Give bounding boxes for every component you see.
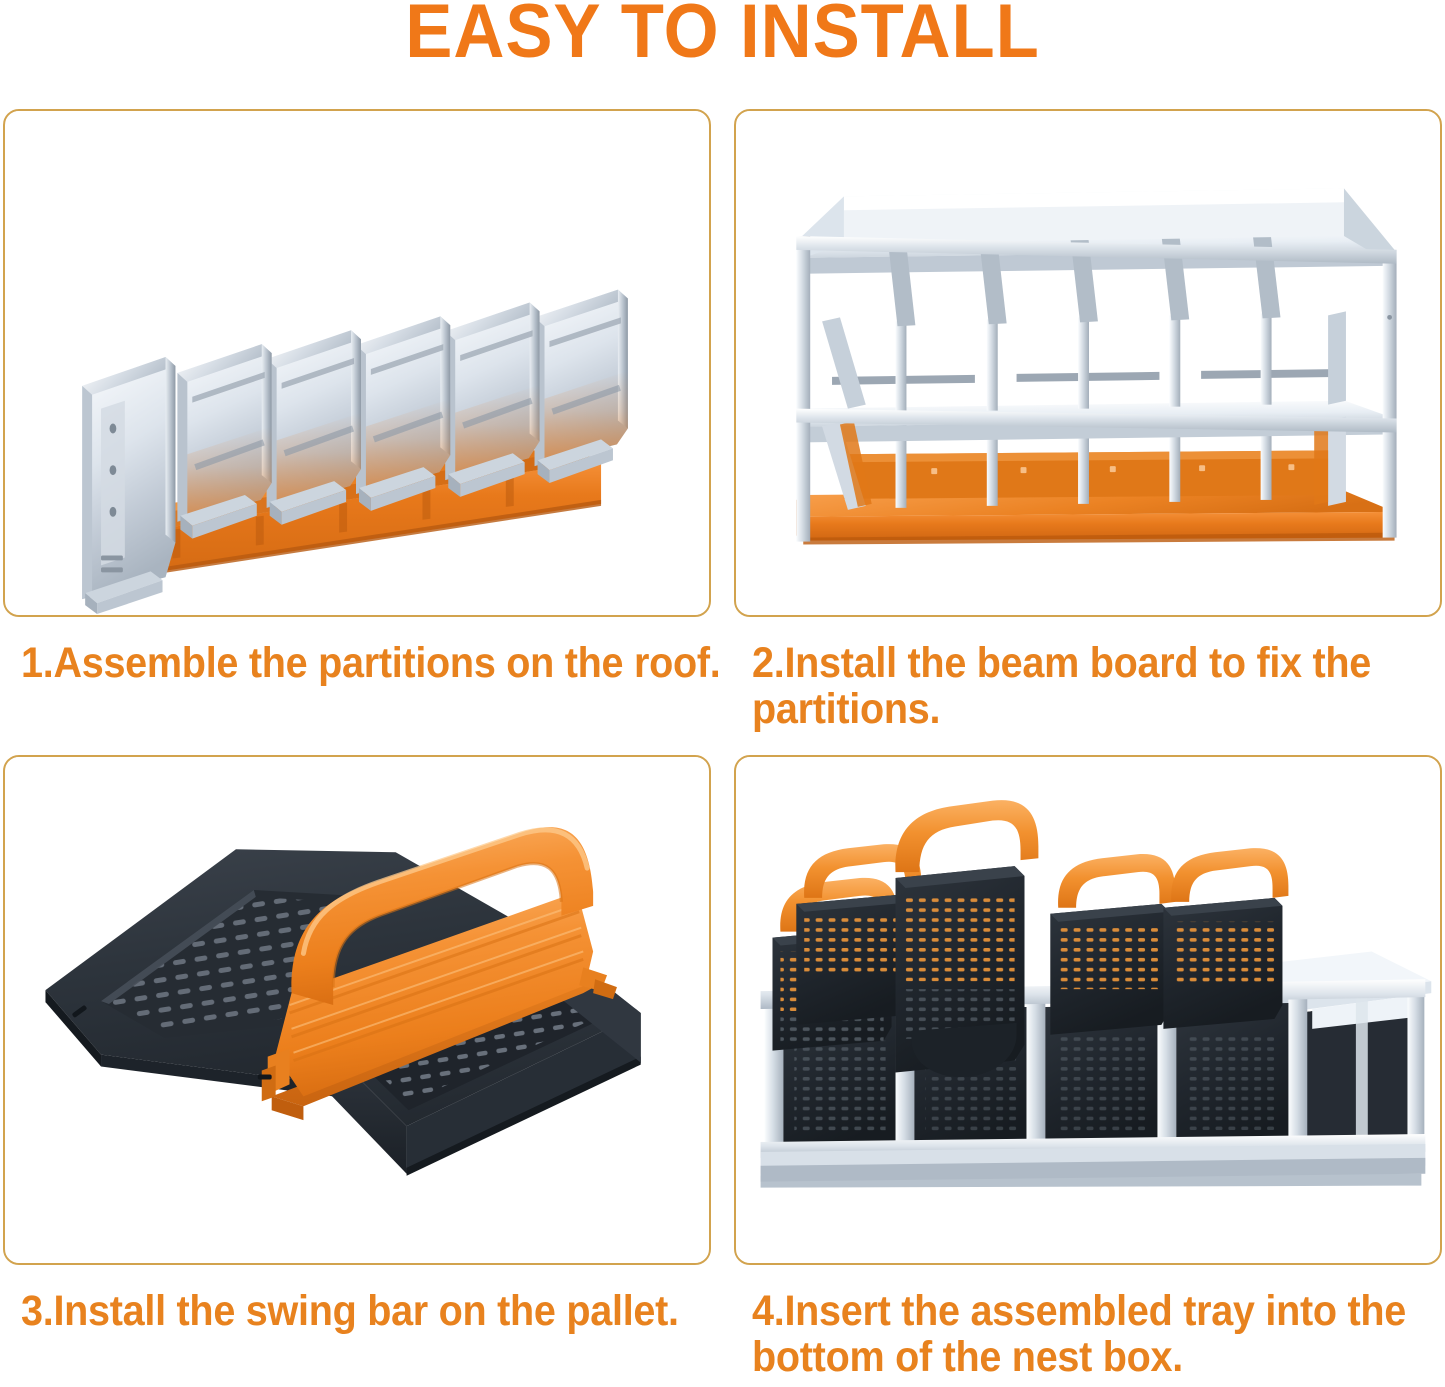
- step-2-image-frame: [734, 109, 1442, 617]
- swing-bar-tray-photo: [5, 757, 709, 1263]
- step-2-caption: 2.Install the beam board to fix the part…: [752, 640, 1445, 732]
- step-4-caption: 4.Insert the assembled tray into the bot…: [752, 1288, 1445, 1380]
- install-step-3: 3.Install the swing bar on the pallet.: [3, 755, 711, 1265]
- partitions-on-roof-photo: [5, 111, 709, 615]
- step-4-image-frame: [734, 755, 1442, 1265]
- install-step-4: 4.Insert the assembled tray into the bot…: [734, 755, 1442, 1265]
- step-3-image-frame: [3, 755, 711, 1265]
- install-step-1: 1.Assemble the partitions on the roof.: [3, 109, 711, 617]
- step-1-image-frame: [3, 109, 711, 617]
- step-3-caption: 3.Install the swing bar on the pallet.: [21, 1288, 729, 1334]
- beam-board-frame-photo: [736, 111, 1440, 615]
- install-step-2: 2.Install the beam board to fix the part…: [734, 109, 1442, 617]
- step-1-caption: 1.Assemble the partitions on the roof.: [21, 640, 729, 686]
- install-steps-grid: 1.Assemble the partitions on the roof.: [0, 0, 1445, 1387]
- tray-into-nest-box-photo: [736, 757, 1440, 1263]
